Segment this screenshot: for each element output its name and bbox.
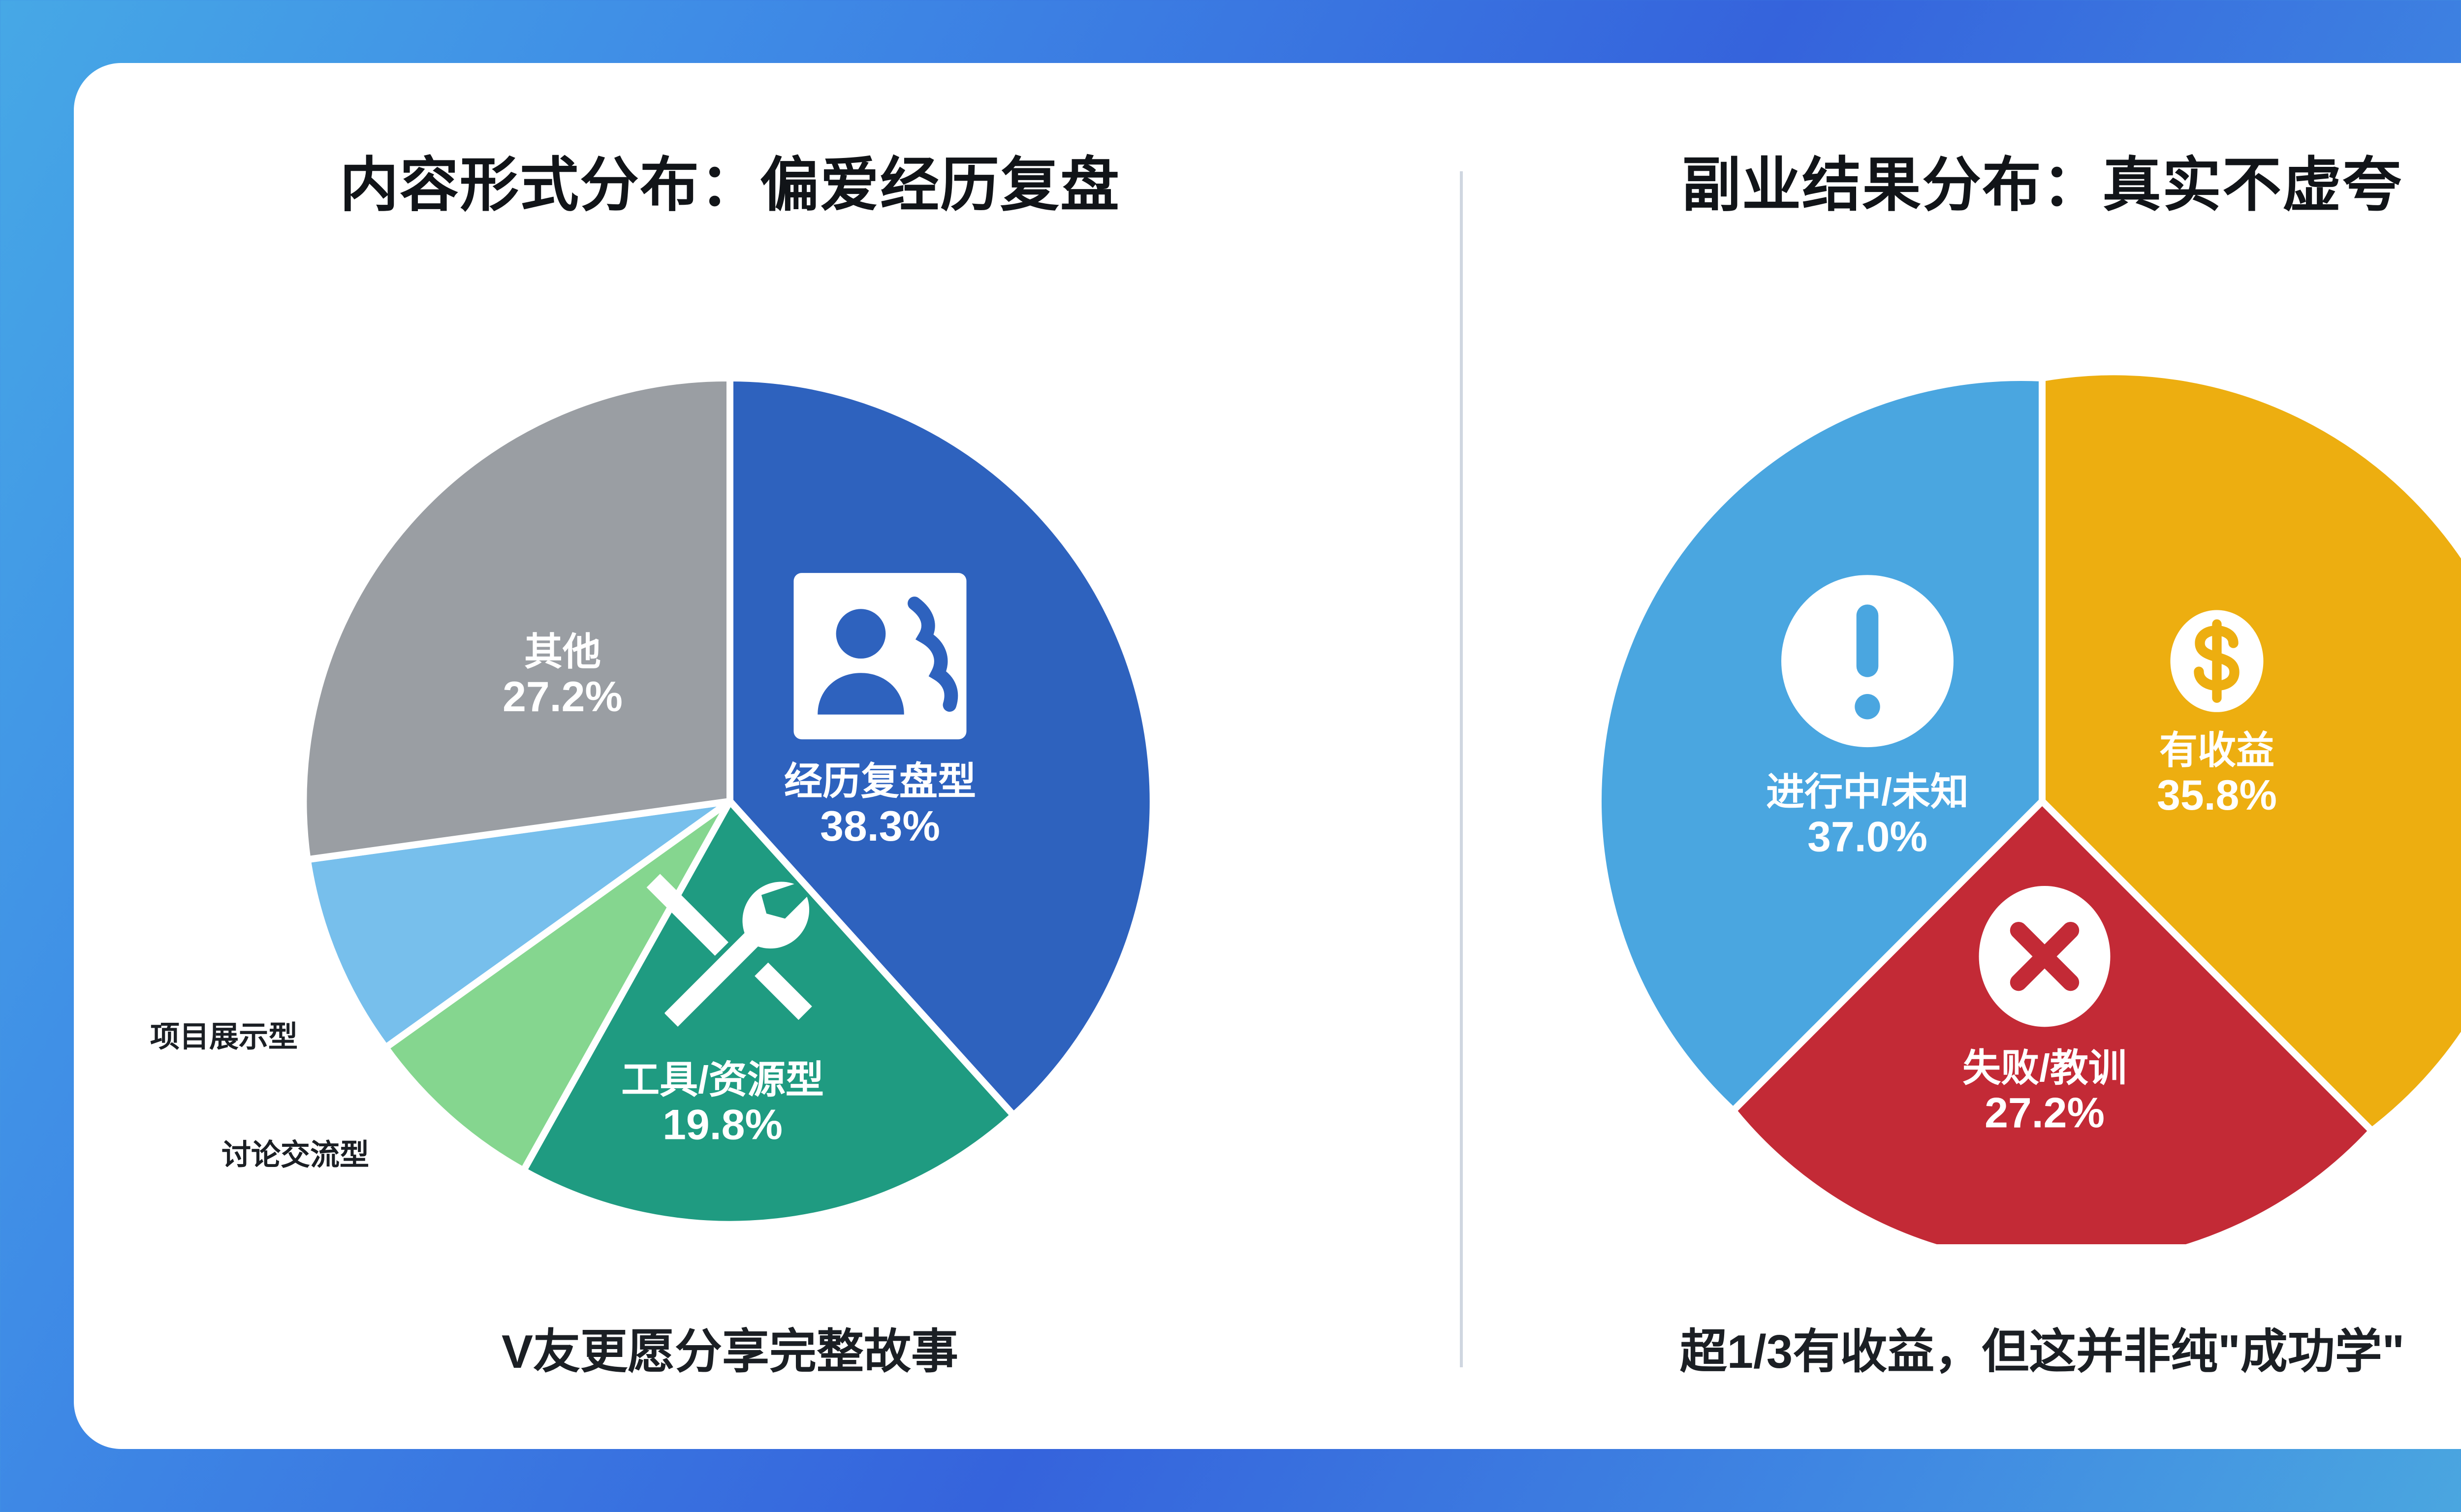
- slice-outside-label-xiangmu-zhanshi: 项目展示型: [150, 1013, 298, 1056]
- pie-chart-right-wrap: 进行中/未知 37.0% 有收益 35.8%: [1386, 358, 2461, 1244]
- panel-caption-right: 超1/3有收益，但这并非纯"成功学": [1386, 1313, 2461, 1382]
- panel-divider: [1460, 171, 1463, 1367]
- pie-slice-qita[interactable]: [303, 378, 730, 859]
- page-title-left: 内容形式分布：偏爱经历复盘: [74, 137, 1386, 222]
- panel-container: 内容形式分布：偏爱经历复盘: [74, 63, 2461, 1449]
- chart-card: 内容形式分布：偏爱经历复盘: [74, 63, 2461, 1449]
- page-title-right: 副业结果分布：真实不虚夸: [1386, 137, 2461, 222]
- panel-caption-left: V友更愿分享完整故事: [74, 1313, 1386, 1382]
- panel-side-hustle-result: 副业结果分布：真实不虚夸: [1386, 63, 2461, 1449]
- pie-chart-left-svg: [287, 358, 1173, 1244]
- pie-chart-left: 经历复盘型 38.3% 工具/资源型 19.8%: [287, 358, 1173, 1244]
- pie-chart-left-wrap: 经历复盘型 38.3% 工具/资源型 19.8%: [74, 358, 1386, 1244]
- panel-content-form: 内容形式分布：偏爱经历复盘: [74, 63, 1386, 1449]
- pie-chart-right-svg: [1599, 358, 2461, 1244]
- pie-chart-right: 进行中/未知 37.0% 有收益 35.8%: [1599, 358, 2461, 1244]
- slice-outside-label-taolun-jiaoliu: 讨论交流型: [221, 1131, 369, 1174]
